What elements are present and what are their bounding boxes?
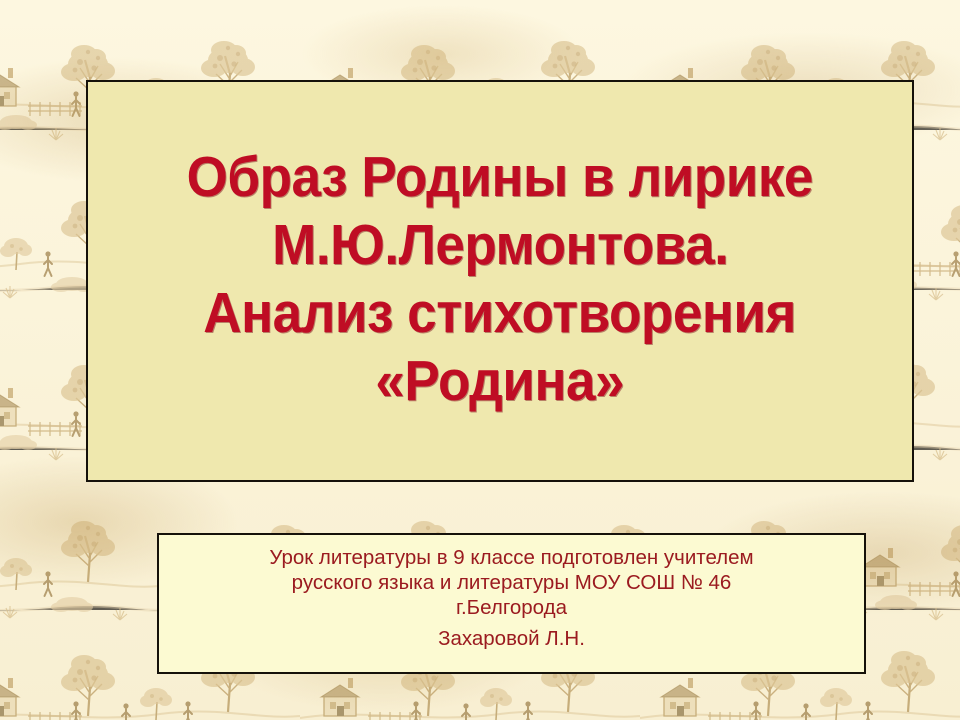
subtitle-line-3: г.Белгорода	[456, 595, 567, 620]
title-line-3: Анализ стихотворения	[204, 279, 797, 347]
subtitle-line-4: Захаровой Л.Н.	[438, 626, 585, 651]
title-line-2: М.Ю.Лермонтова.	[272, 211, 728, 279]
presentation-slide: Образ Родины в лирике М.Ю.Лермонтова. Ан…	[0, 0, 960, 720]
title-line-4: «Родина»	[376, 347, 625, 415]
title-line-1: Образ Родины в лирике	[187, 143, 813, 211]
subtitle-line-2: русского языка и литературы МОУ СОШ № 46	[292, 570, 732, 595]
subtitle-line-1: Урок литературы в 9 классе подготовлен у…	[269, 545, 753, 570]
title-panel: Образ Родины в лирике М.Ю.Лермонтова. Ан…	[86, 80, 914, 482]
subtitle-panel: Урок литературы в 9 классе подготовлен у…	[157, 533, 866, 674]
